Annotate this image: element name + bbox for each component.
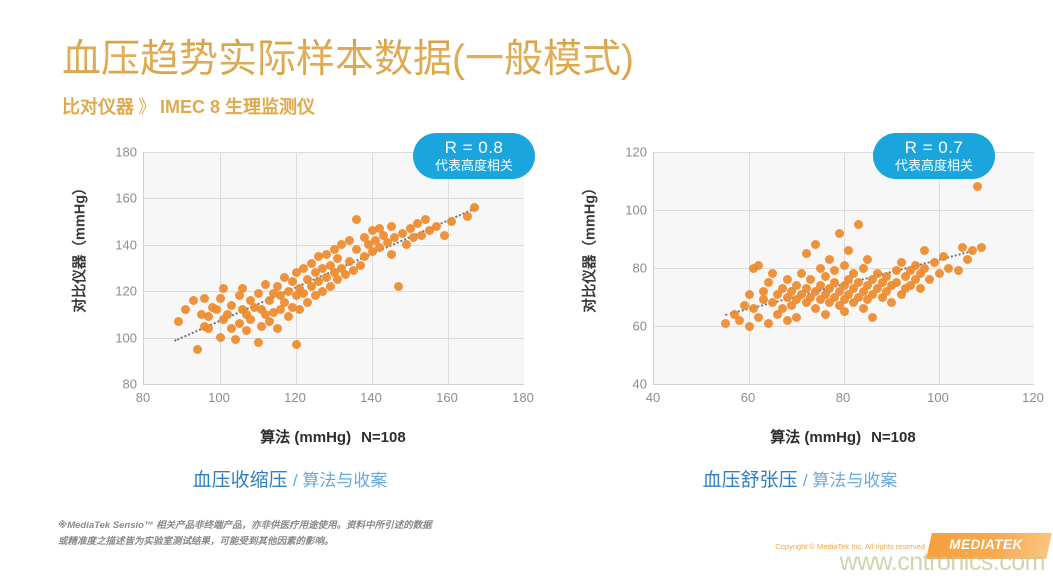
subtitle-prefix: 比对仪器 (62, 97, 134, 117)
scatter-point (764, 319, 773, 328)
correlation-badge-diastolic: R = 0.7 代表高度相关 (873, 133, 995, 179)
y-axis-ticks: 406080100120 (607, 140, 647, 380)
scatter-point (284, 312, 293, 321)
scatter-point (265, 317, 274, 326)
badge-r-value: R = 0.8 (413, 137, 535, 157)
x-axis-ticks: 80100120140160180 (143, 390, 523, 410)
scatter-point (394, 282, 403, 291)
scatter-point (854, 220, 863, 229)
scatter-point (212, 305, 221, 314)
gridline-horizontal (144, 291, 524, 292)
scatter-point (944, 264, 953, 273)
scatter-point (835, 229, 844, 238)
scatter-point (402, 240, 411, 249)
scatter-point (925, 275, 934, 284)
chart-panel-systolic: 对比仪器（mmHg） 80100120140160180 80100120140… (55, 140, 525, 500)
site-watermark: www.cntronics.com (840, 548, 1045, 577)
scatter-point (844, 246, 853, 255)
scatter-point (231, 335, 240, 344)
scatter-point (830, 278, 839, 287)
scatter-point (261, 280, 270, 289)
x-tick-label: 60 (726, 390, 770, 405)
scatter-point (273, 324, 282, 333)
scatter-point (440, 231, 449, 240)
scatter-point (754, 261, 763, 270)
scatter-point (797, 269, 806, 278)
disclaimer-text: ※MediaTek Sensio™ 相关产品非终端产品，亦非供医疗用途使用。资料… (58, 518, 528, 549)
gridline-vertical (220, 152, 221, 384)
scatter-point (352, 245, 361, 254)
scatter-point (303, 298, 312, 307)
x-tick-label: 140 (349, 390, 393, 405)
scatter-point (930, 258, 939, 267)
scatter-point (911, 261, 920, 270)
scatter-point (463, 212, 472, 221)
y-tick-label: 100 (103, 330, 137, 345)
scatter-point (811, 240, 820, 249)
x-tick-label: 180 (501, 390, 545, 405)
disclaimer-line-2: 或精准度之描述皆为实验室测试结果，可能受到其他因素的影响。 (58, 534, 528, 550)
scatter-point (749, 304, 758, 313)
scatter-point (333, 254, 342, 263)
scatter-point (968, 246, 977, 255)
scatter-point (830, 266, 839, 275)
chart-caption-systolic: 血压收缩压 / 算法与收案 (55, 465, 525, 492)
scatter-point (892, 266, 901, 275)
y-tick-label: 120 (103, 284, 137, 299)
caption-main: 血压舒张压 (703, 470, 798, 491)
scatter-point (189, 296, 198, 305)
page-title: 血压趋势实际样本数据(一般模式) (62, 28, 634, 84)
gridline-vertical (372, 152, 373, 384)
disclaimer-line-1: ※MediaTek Sensio™ 相关产品非终端产品，亦非供医疗用途使用。资料… (58, 518, 528, 534)
scatter-point (745, 290, 754, 299)
scatter-point (935, 269, 944, 278)
subtitle-device: IMEC 8 生理监测仪 (160, 97, 315, 117)
scatter-point (963, 255, 972, 264)
scatter-point (892, 278, 901, 287)
x-axis-label-text: 算法 (mmHg) (260, 429, 351, 446)
y-tick-label: 100 (613, 203, 647, 218)
gridline-horizontal (144, 198, 524, 199)
scatter-point (873, 269, 882, 278)
scatter-point (292, 340, 301, 349)
scatter-point (387, 222, 396, 231)
x-axis-ticks: 406080100120 (653, 390, 1033, 410)
scatter-plot-area-systolic (143, 152, 524, 385)
scatter-point (816, 264, 825, 273)
scatter-point (307, 259, 316, 268)
scatter-point (447, 217, 456, 226)
sample-count: N=108 (351, 429, 406, 446)
x-tick-label: 80 (821, 390, 865, 405)
caption-main: 血压收缩压 (193, 470, 288, 491)
scatter-point (920, 264, 929, 273)
chart-panel-diastolic: 对比仪器（mmHg） 406080100120 406080100120 算法 … (565, 140, 1035, 500)
scatter-point (859, 264, 868, 273)
gridline-vertical (939, 152, 940, 384)
scatter-point (768, 269, 777, 278)
scatter-point (783, 275, 792, 284)
gridline-horizontal (144, 338, 524, 339)
y-tick-label: 140 (103, 237, 137, 252)
scatter-point (387, 250, 396, 259)
x-axis-label: 算法 (mmHg)N=108 (143, 426, 523, 447)
scatter-point (181, 305, 190, 314)
scatter-point (783, 316, 792, 325)
x-tick-label: 160 (425, 390, 469, 405)
x-tick-label: 120 (273, 390, 317, 405)
scatter-point (326, 282, 335, 291)
scatter-point (223, 310, 232, 319)
scatter-plot-area-diastolic (653, 152, 1034, 385)
scatter-point (840, 261, 849, 270)
scatter-point (811, 304, 820, 313)
x-tick-label: 100 (916, 390, 960, 405)
caption-sub: / 算法与收案 (293, 471, 387, 490)
scatter-point (887, 298, 896, 307)
scatter-point (735, 316, 744, 325)
y-tick-label: 160 (103, 191, 137, 206)
scatter-point (174, 317, 183, 326)
scatter-point (868, 313, 877, 322)
scatter-point (816, 281, 825, 290)
scatter-point (821, 272, 830, 281)
scatter-point (216, 333, 225, 342)
scatter-point (825, 255, 834, 264)
scatter-point (897, 258, 906, 267)
y-axis-ticks: 80100120140160180 (97, 140, 137, 380)
scatter-point (352, 215, 361, 224)
x-axis-label-text: 算法 (mmHg) (770, 429, 861, 446)
scatter-point (470, 203, 479, 212)
correlation-badge-systolic: R = 0.8 代表高度相关 (413, 133, 535, 179)
scatter-point (778, 284, 787, 293)
scatter-point (432, 222, 441, 231)
scatter-point (356, 261, 365, 270)
scatter-point (759, 287, 768, 296)
scatter-point (242, 326, 251, 335)
scatter-point (200, 294, 209, 303)
scatter-point (216, 294, 225, 303)
scatter-point (939, 252, 948, 261)
scatter-point (204, 324, 213, 333)
y-tick-label: 60 (613, 319, 647, 334)
scatter-point (863, 255, 872, 264)
scatter-point (802, 249, 811, 258)
scatter-point (821, 310, 830, 319)
scatter-point (920, 246, 929, 255)
scatter-point (193, 345, 202, 354)
y-tick-label: 120 (613, 145, 647, 160)
scatter-point (246, 315, 255, 324)
x-axis-label: 算法 (mmHg)N=108 (653, 426, 1033, 447)
scatter-point (299, 289, 308, 298)
badge-description: 代表高度相关 (413, 157, 535, 173)
x-tick-label: 40 (631, 390, 675, 405)
subtitle: 比对仪器》IMEC 8 生理监测仪 (62, 93, 315, 119)
scatter-point (840, 307, 849, 316)
badge-description: 代表高度相关 (873, 157, 995, 173)
scatter-point (977, 243, 986, 252)
slide-root: 血压趋势实际样本数据(一般模式) 比对仪器》IMEC 8 生理监测仪 对比仪器（… (0, 0, 1053, 583)
caption-sub: / 算法与收案 (803, 471, 897, 490)
x-tick-label: 120 (1011, 390, 1053, 405)
gridline-vertical (448, 152, 449, 384)
scatter-point (882, 272, 891, 281)
scatter-point (345, 236, 354, 245)
y-tick-label: 80 (613, 261, 647, 276)
scatter-point (778, 304, 787, 313)
scatter-point (792, 281, 801, 290)
x-tick-label: 80 (121, 390, 165, 405)
scatter-point (806, 275, 815, 284)
scatter-point (854, 278, 863, 287)
scatter-point (421, 215, 430, 224)
scatter-point (859, 304, 868, 313)
scatter-point (295, 305, 304, 314)
scatter-point (973, 182, 982, 191)
sample-count: N=108 (861, 429, 916, 446)
scatter-point (227, 301, 236, 310)
scatter-point (254, 289, 263, 298)
scatter-point (273, 282, 282, 291)
scatter-point (740, 301, 749, 310)
scatter-point (204, 312, 213, 321)
scatter-point (721, 319, 730, 328)
scatter-point (954, 266, 963, 275)
scatter-point (802, 284, 811, 293)
x-tick-label: 100 (197, 390, 241, 405)
y-axis-label: 对比仪器（mmHg） (579, 167, 600, 327)
scatter-point (254, 338, 263, 347)
scatter-point (754, 313, 763, 322)
scatter-point (916, 284, 925, 293)
scatter-point (764, 278, 773, 287)
scatter-point (345, 257, 354, 266)
badge-r-value: R = 0.7 (873, 137, 995, 157)
chevron-right-icon: 》 (134, 97, 160, 117)
scatter-point (792, 313, 801, 322)
chart-caption-diastolic: 血压舒张压 / 算法与收案 (565, 465, 1035, 492)
scatter-point (768, 298, 777, 307)
y-tick-label: 180 (103, 145, 137, 160)
scatter-point (849, 269, 858, 278)
scatter-point (745, 322, 754, 331)
y-axis-label: 对比仪器（mmHg） (69, 167, 90, 327)
